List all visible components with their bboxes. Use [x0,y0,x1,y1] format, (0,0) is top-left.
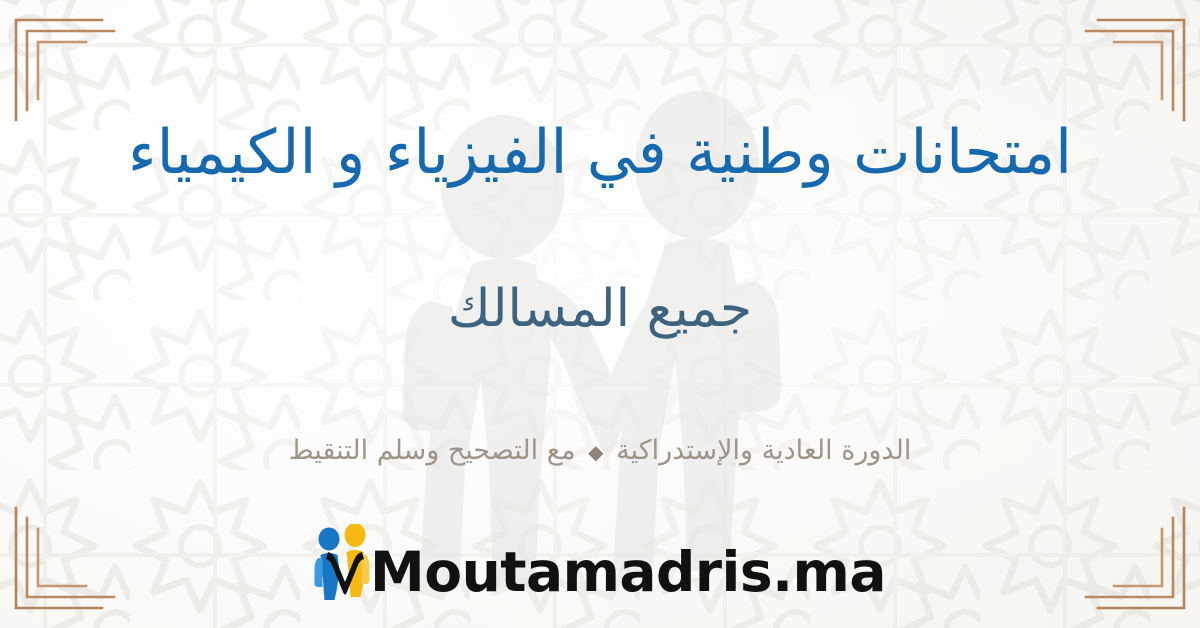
brand-lockup[interactable]: Moutamadris.ma [0,524,1200,600]
tagline: الدورة العادية والإستدراكية ◆ مع التصحيح… [0,433,1200,468]
poster-content: امتحانات وطنية في الفيزياء و الكيمياء جم… [0,0,1200,628]
page-subtitle: جميع المسالك [0,278,1200,340]
brand-name: Moutamadris.ma [370,545,886,600]
tagline-left: الدورة العادية والإستدراكية [616,435,911,466]
page-title: امتحانات وطنية في الفيزياء و الكيمياء [0,116,1200,190]
moutamadris-logo-icon [314,524,376,602]
poster-canvas: امتحانات وطنية في الفيزياء و الكيمياء جم… [0,0,1200,628]
diamond-separator-icon: ◆ [584,440,607,464]
tagline-right: مع التصحيح وسلم التنقيط [289,435,576,466]
